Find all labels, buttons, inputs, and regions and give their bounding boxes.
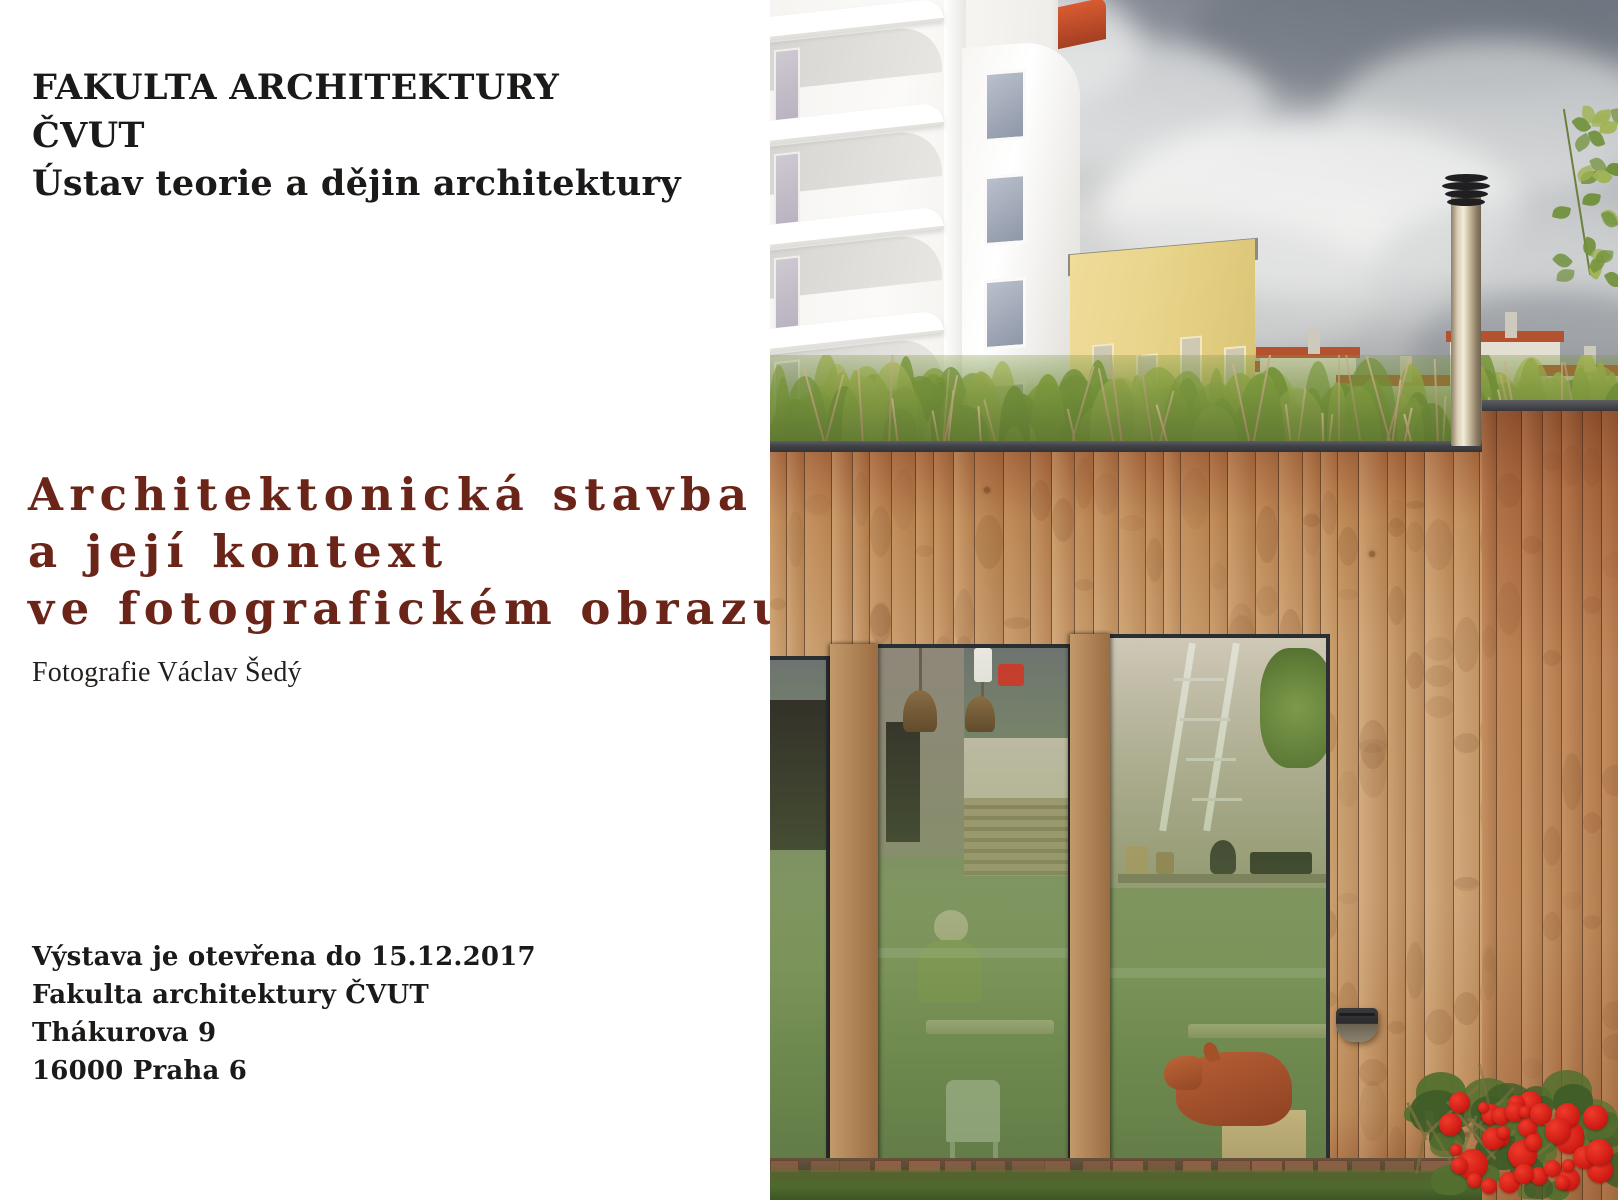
wood-grain (1406, 522, 1424, 552)
flue-cap-fin (1445, 174, 1488, 182)
apartment-window (774, 47, 800, 122)
wood-grain (1146, 538, 1163, 582)
cladding-plank (1359, 452, 1388, 1200)
wood-grain (1562, 753, 1582, 810)
leaf (1600, 209, 1618, 230)
wood-grain (1425, 637, 1453, 661)
photographer-credit: Fotografie Václav Šedý (32, 655, 302, 691)
red-flower (1451, 1157, 1468, 1174)
wood-grain (1388, 499, 1405, 529)
wood-grain (787, 511, 804, 567)
window-opening-edge (770, 656, 830, 1200)
wood-grain (1425, 665, 1453, 687)
wood-grain (1602, 552, 1618, 578)
wood-grain (1583, 596, 1601, 614)
apartment-window (774, 255, 800, 330)
wood-grain (1338, 893, 1358, 904)
wood-grain (1543, 912, 1561, 941)
flue-cap-icon (1442, 174, 1490, 204)
red-flower (1450, 1144, 1462, 1156)
dry-twig (1338, 355, 1340, 445)
leaf (1552, 250, 1573, 271)
wood-grain (870, 602, 891, 637)
wood-grain (1406, 501, 1424, 509)
detail-line-dates: Výstava je otevřena do 15.12.2017 (32, 938, 732, 976)
wood-grain (1359, 743, 1387, 798)
wood-grain (1119, 515, 1145, 531)
tree-branch (1514, 108, 1618, 278)
wood-grain (805, 494, 831, 515)
leaf (1595, 249, 1613, 263)
wood-grain (1482, 625, 1496, 658)
red-flower (1586, 1139, 1613, 1166)
storm-cloud-dark (1190, 0, 1618, 100)
wood-grain (1256, 586, 1278, 616)
leaf (1582, 192, 1601, 208)
wood-grain (1543, 451, 1561, 471)
window-glass-left (878, 648, 1068, 1200)
wood-grain (870, 506, 891, 557)
wood-grain (892, 469, 915, 530)
wood-grain (1454, 617, 1479, 672)
wood-grain (1052, 498, 1074, 542)
wood-grain (1406, 942, 1424, 999)
wood-grain (1338, 589, 1358, 600)
wood-grain (1359, 1081, 1387, 1141)
window-glass-edge (770, 660, 826, 1200)
leaf (1552, 204, 1571, 220)
distant-chimney (1505, 312, 1517, 338)
detail-line-venue: Fakulta architektury ČVUT (32, 976, 732, 1014)
flue-cap-fin (1447, 198, 1485, 206)
wood-grain (1497, 473, 1521, 508)
red-flower (1514, 1164, 1534, 1184)
wood-grain (1602, 1001, 1618, 1030)
wood-grain (1583, 915, 1601, 929)
red-geranium-flowers (1403, 1030, 1618, 1200)
wood-grain (1425, 519, 1453, 570)
title-line-2: a její kontext (28, 523, 768, 580)
wood-grain (1210, 563, 1227, 590)
red-flower (1449, 1092, 1470, 1113)
red-flower (1481, 1178, 1497, 1194)
red-flower (1544, 1160, 1561, 1177)
exhibition-photograph (770, 0, 1618, 1200)
wood-grain (1543, 650, 1561, 666)
wood-grain (1406, 652, 1424, 689)
stair-tower-window (984, 277, 1026, 350)
glass-reflection (878, 648, 1068, 1200)
wood-grain (1031, 480, 1051, 521)
glass-streak (1110, 968, 1326, 978)
wood-grain (1075, 458, 1093, 509)
title-line-3: ve fotografickém obrazu (28, 580, 768, 637)
red-flower (1545, 1118, 1571, 1144)
wood-grain (1338, 527, 1358, 566)
glass-reflection (770, 660, 826, 1200)
wood-grain (1522, 536, 1542, 554)
institution-line-faculty: FAKULTA ARCHITEKTURY (32, 64, 732, 112)
title-line-1: Architektonická stavba (28, 466, 768, 523)
wood-grain (1482, 948, 1496, 1000)
institution-line-department: Ústav teorie a dějin architektury (32, 160, 732, 208)
wood-grain (1004, 617, 1030, 629)
wood-grain (1497, 582, 1521, 635)
red-flower (1497, 1126, 1510, 1139)
red-flower (1439, 1113, 1462, 1136)
institution-block: FAKULTA ARCHITEKTURY ČVUT Ústav teorie a… (32, 64, 732, 208)
detail-line-city: 16000 Praha 6 (32, 1052, 732, 1090)
wood-grain (1075, 579, 1093, 591)
wood-grain (1338, 771, 1358, 807)
flue-cap-fin (1442, 182, 1490, 190)
wood-grain (916, 545, 933, 557)
apartment-window (774, 151, 800, 226)
wood-grain (1562, 892, 1582, 909)
window-opening-left (874, 644, 1072, 1200)
wood-grain (1181, 468, 1209, 529)
stair-tower-window (984, 173, 1026, 246)
wood-grain (1583, 447, 1601, 487)
stair-tower-window (984, 69, 1026, 142)
wood-grain (1303, 514, 1320, 527)
window-opening-right (1106, 634, 1330, 1200)
wood-grain (1602, 765, 1618, 796)
wood-grain (1321, 491, 1337, 535)
text-column: FAKULTA ARCHITEKTURY ČVUT Ústav teorie a… (0, 0, 770, 1200)
wood-grain (1388, 586, 1405, 625)
red-flower (1467, 1173, 1482, 1188)
window-mullion-2 (1070, 634, 1110, 1200)
wood-grain (853, 472, 869, 527)
cladding-plank (1338, 452, 1359, 1200)
wood-grain (770, 598, 786, 610)
institution-line-university: ČVUT (32, 112, 732, 160)
red-flower (1478, 1102, 1489, 1113)
wood-grain (1583, 812, 1601, 833)
stainless-steel-flue (1451, 196, 1481, 446)
window-mullion-1 (830, 644, 878, 1200)
wood-grain (1562, 445, 1582, 486)
glass-streak (878, 948, 1068, 958)
flue-cap-fin (1445, 190, 1488, 198)
wood-grain (1425, 696, 1453, 718)
poster-root: FAKULTA ARCHITEKTURY ČVUT Ústav teorie a… (0, 0, 1618, 1200)
wood-knot (1369, 551, 1375, 557)
exhibition-details: Výstava je otevřena do 15.12.2017 Fakult… (32, 938, 732, 1090)
wood-grain (975, 515, 1003, 569)
window-glass-right (1110, 638, 1326, 1200)
wood-grain (1256, 506, 1278, 563)
wood-grain (1454, 877, 1479, 888)
wood-grain (1454, 992, 1479, 1025)
dry-frond (1415, 1132, 1427, 1174)
red-flower (1525, 1134, 1542, 1151)
exhibition-title: Architektonická stavba a její kontext ve… (28, 466, 768, 637)
sculpture-head (1164, 1056, 1202, 1090)
wall-lamp-icon (1336, 1008, 1378, 1042)
red-flower (1555, 1175, 1570, 1190)
wood-grain (1543, 826, 1561, 866)
red-flower (1583, 1105, 1608, 1130)
detail-line-street: Thákurova 9 (32, 1014, 732, 1052)
wood-grain (1094, 473, 1118, 515)
wood-grain (1454, 733, 1479, 753)
wood-knot (984, 487, 990, 493)
distant-chimney (1308, 328, 1320, 354)
